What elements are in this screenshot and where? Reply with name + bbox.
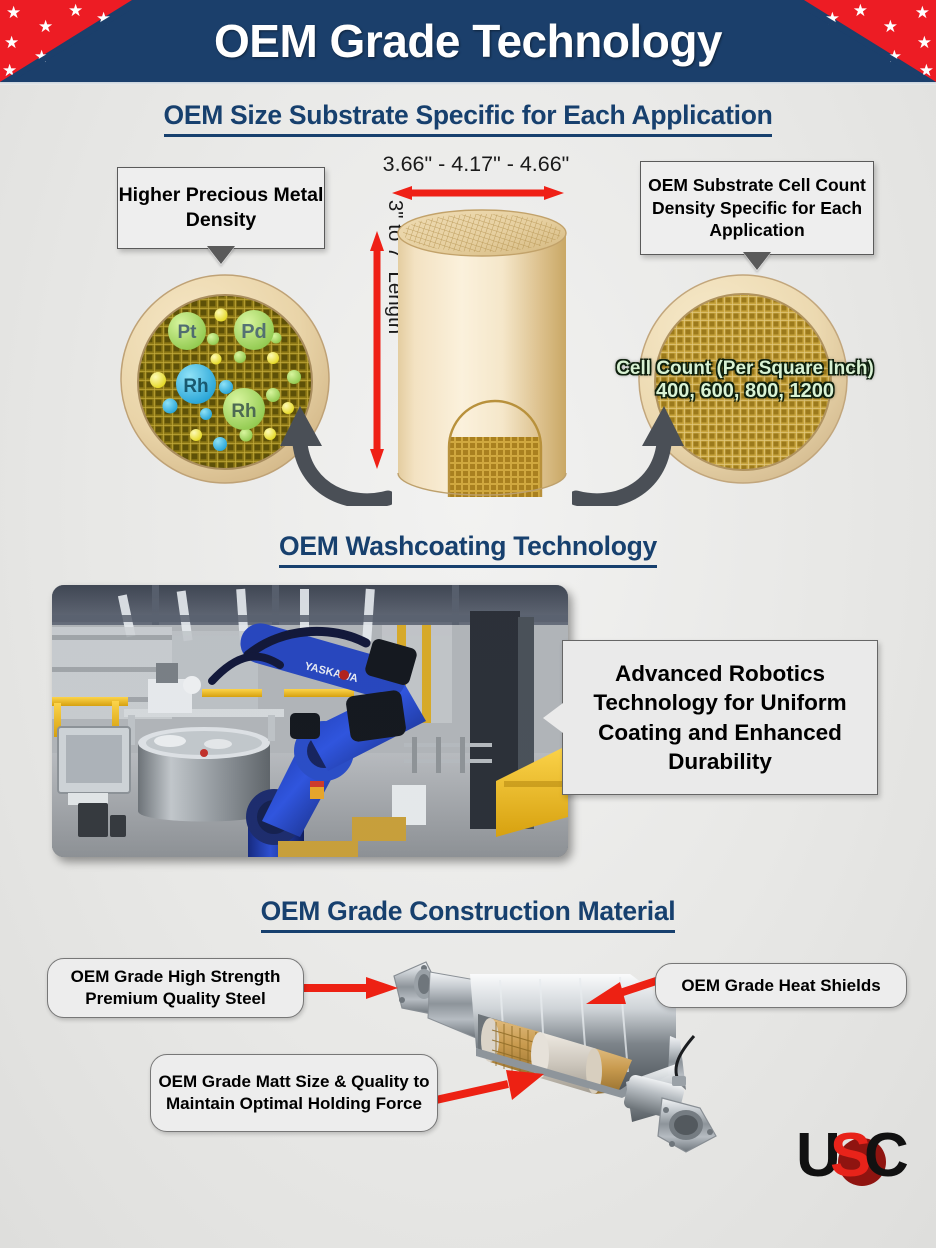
- callout-advanced-robotics-text: Advanced Robotics Technology for Uniform…: [563, 659, 877, 776]
- svg-text:Rh: Rh: [183, 376, 208, 397]
- callout-premium-steel-text: OEM Grade High Strength Premium Quality …: [48, 966, 303, 1009]
- callout-tail: [543, 703, 563, 733]
- robot-photo-graphic: YASKAWA: [52, 585, 568, 857]
- particle-rh-1: Rh: [176, 364, 216, 404]
- callout-heat-shields-text: OEM Grade Heat Shields: [681, 975, 880, 997]
- section-title-size: OEM Size Substrate Specific for Each App…: [0, 100, 936, 137]
- page-footer: US Convertors® P0420 P0430 KEEP THE LI: [0, 1166, 936, 1248]
- curved-arrow-right-icon: [572, 400, 692, 506]
- arrow-to-matt-icon: [436, 1070, 544, 1104]
- arrow-to-steel-icon: [302, 977, 398, 999]
- section-title-washcoating-text: OEM Washcoating Technology: [279, 531, 657, 568]
- svg-text:Rh: Rh: [231, 401, 256, 422]
- infographic-page: ★ ★ ★ ★ ★ ★ ★ OEM Grade Technology ★ ★ ★…: [0, 0, 936, 1248]
- callout-precious-metal-density-text: Higher Precious Metal Density: [118, 183, 324, 233]
- particle-pt: Pt: [168, 312, 206, 350]
- particle-pd: Pd: [234, 310, 274, 350]
- callout-matt-size: OEM Grade Matt Size & Quality to Maintai…: [150, 1054, 438, 1132]
- section-title-washcoating: OEM Washcoating Technology: [0, 531, 936, 568]
- svg-text:Pt: Pt: [178, 322, 198, 343]
- arrow-to-heat-shield-icon: [586, 972, 662, 1004]
- callout-cell-count-density-text: OEM Substrate Cell Count Density Specifi…: [641, 174, 873, 241]
- substrate-cylinder-illustration: [392, 197, 572, 497]
- particle-rh-2: Rh: [223, 388, 265, 430]
- svg-text:Pd: Pd: [241, 321, 267, 343]
- callout-tail: [744, 254, 770, 271]
- callout-tail: [208, 248, 234, 265]
- section-title-construction-text: OEM Grade Construction Material: [261, 896, 676, 933]
- section-title-construction: OEM Grade Construction Material: [0, 896, 936, 933]
- callout-advanced-robotics: Advanced Robotics Technology for Uniform…: [562, 640, 878, 795]
- header-divider: [0, 82, 936, 85]
- callout-heat-shields: OEM Grade Heat Shields: [655, 963, 907, 1008]
- washcoating-robot-photo: YASKAWA: [52, 585, 568, 857]
- callout-premium-steel: OEM Grade High Strength Premium Quality …: [47, 958, 304, 1018]
- callout-matt-size-text: OEM Grade Matt Size & Quality to Maintai…: [151, 1071, 437, 1114]
- callout-cell-count-density: OEM Substrate Cell Count Density Specifi…: [640, 161, 874, 255]
- page-title: OEM Grade Technology: [0, 0, 936, 82]
- page-header: ★ ★ ★ ★ ★ ★ ★ OEM Grade Technology ★ ★ ★…: [0, 0, 936, 82]
- curved-arrow-left-icon: [272, 400, 392, 506]
- section-title-size-text: OEM Size Substrate Specific for Each App…: [164, 100, 773, 137]
- callout-precious-metal-density: Higher Precious Metal Density: [117, 167, 325, 249]
